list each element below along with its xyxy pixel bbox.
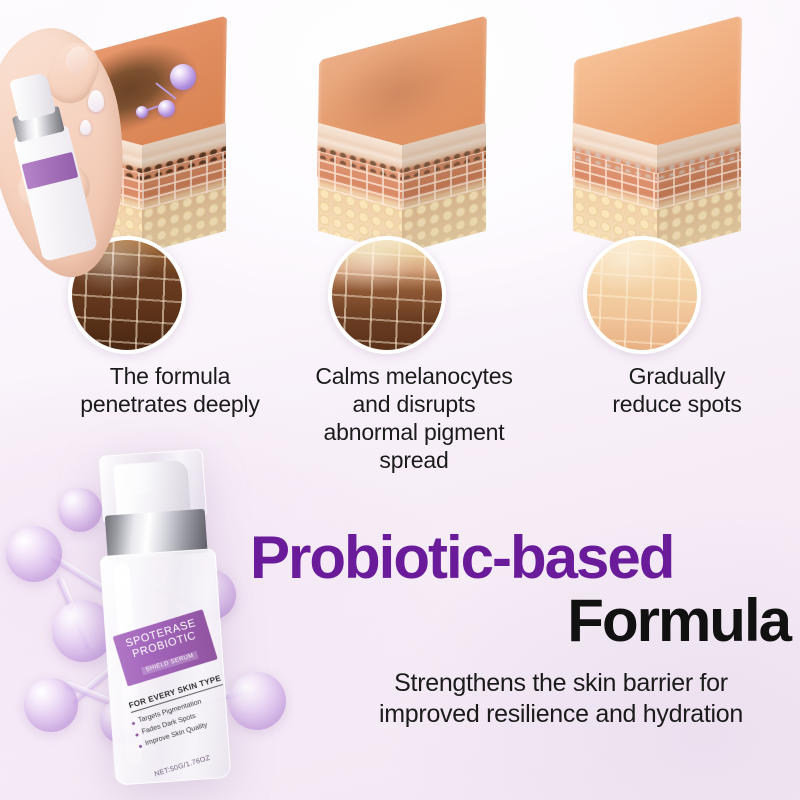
caption-line: and disrupts (288, 390, 540, 418)
caption-line: penetrates deeply (55, 390, 285, 418)
skin-panel-step-2 (280, 18, 530, 358)
inset-gloss (587, 240, 697, 350)
magnifier-circle-icon-2 (328, 236, 446, 354)
subheadline-line-2: improved resilience and hydration (330, 699, 792, 730)
skin-layer-left-face (318, 123, 402, 254)
caption-line: Gradually (572, 362, 782, 390)
product-bottle: SPOTERASE PROBIOTIC SHIELD SERUM FOR EVE… (85, 448, 240, 786)
subheadline-line-1: Strengthens the skin barrier for (330, 668, 792, 699)
molecule-sphere (228, 672, 286, 730)
inset-gloss (332, 240, 442, 350)
droplet-icon (80, 120, 91, 135)
magnifier-circle-icon-3 (583, 236, 701, 354)
droplet-icon (88, 90, 104, 112)
headline-line-1: Probiotic-based (250, 528, 790, 588)
skin-layer-right-face (402, 123, 486, 254)
molecule-sphere (158, 100, 175, 117)
headline-line-2: Formula (250, 590, 790, 651)
pump-head-icon (9, 72, 56, 122)
headline-block: Probiotic-based Formula (250, 528, 790, 651)
caption-line: spread (288, 446, 540, 474)
caption-line: Calms melanocytes (288, 362, 540, 390)
skin-cross-section-block-3 (565, 38, 761, 244)
subheadline-block: Strengthens the skin barrier for improve… (330, 668, 792, 730)
product-infographic-page: The formula penetrates deeply Calms mela… (0, 0, 800, 800)
caption-line: abnormal pigment (288, 418, 540, 446)
pump-head-icon (113, 460, 190, 517)
skin-cross-section-block-2 (310, 38, 506, 244)
step-3-caption: Gradually reduce spots (572, 362, 782, 418)
caption-line: reduce spots (572, 390, 782, 418)
skin-layer-right-face (142, 123, 226, 254)
step-2-caption: Calms melanocytes and disrupts abnormal … (288, 362, 540, 474)
caption-line: The formula (55, 362, 285, 390)
molecule-sphere (170, 64, 196, 90)
skin-panel-step-3 (535, 18, 785, 358)
skin-layer-left-face (573, 123, 657, 254)
molecule-sphere (24, 678, 78, 732)
hand-applying-product (0, 28, 142, 298)
skin-layer-right-face (657, 123, 741, 254)
step-1-caption: The formula penetrates deeply (55, 362, 285, 418)
molecule-sphere (6, 526, 62, 582)
